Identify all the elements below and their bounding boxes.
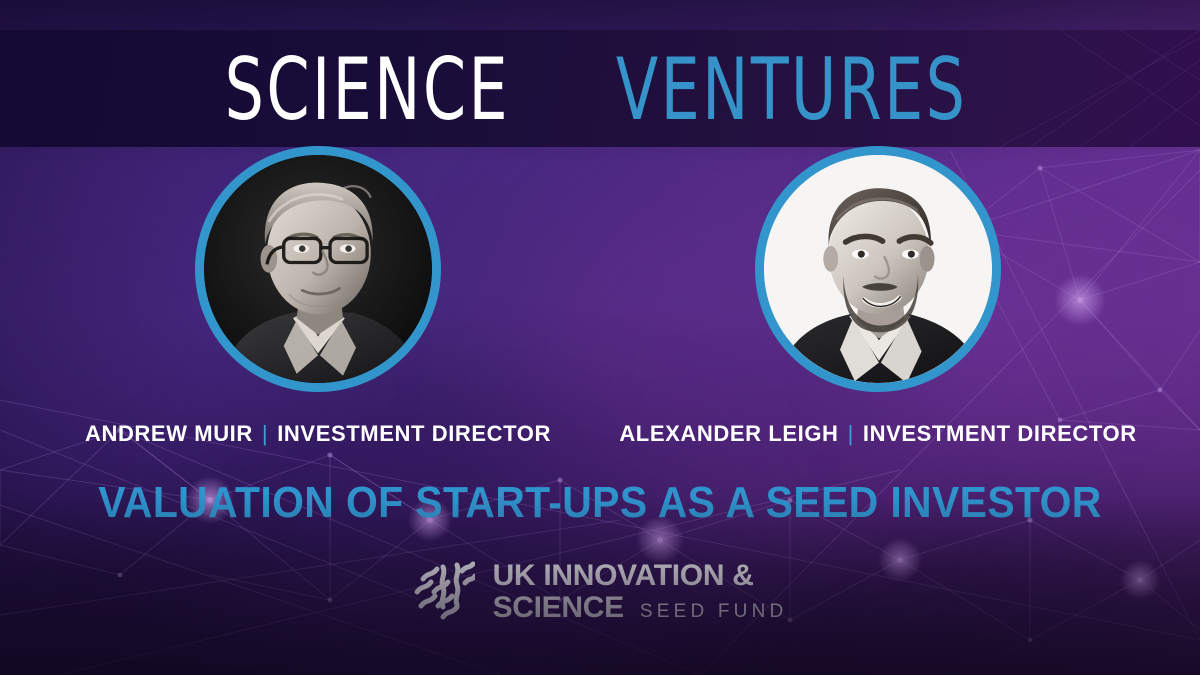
logo-wordmark: UK INNOVATION & SCIENCE SEED FUND [493, 560, 788, 624]
alexander-leigh-photo [764, 155, 992, 383]
speaker-separator-right: | [848, 421, 854, 447]
logo-line-2: SCIENCE [493, 592, 624, 624]
webinar-promo-card: SCIENCE VENTURES [0, 0, 1200, 675]
speaker-name-left: ANDREW MUIR [85, 421, 253, 447]
speaker-role-left: INVESTMENT DIRECTOR [277, 421, 551, 447]
speaker-caption-left: ANDREW MUIR | INVESTMENT DIRECTOR [38, 420, 598, 448]
logo-line-1: UK INNOVATION & [493, 560, 788, 592]
speaker-role-right: INVESTMENT DIRECTOR [863, 421, 1137, 447]
title-science-word: SCIENCE [225, 47, 510, 133]
andrew-muir-photo [204, 155, 432, 383]
speaker-caption-right: ALEXANDER LEIGH | INVESTMENT DIRECTOR [598, 420, 1158, 448]
event-headline: VALUATION OF START-UPS AS A SEED INVESTO… [42, 478, 1158, 528]
speaker-name-right: ALEXANDER LEIGH [619, 421, 838, 447]
avatar-andrew-muir [195, 146, 441, 392]
logo-subtitle: SEED FUND [640, 601, 788, 623]
speaker-separator-left: | [262, 421, 268, 447]
avatar-alexander-leigh [755, 146, 1001, 392]
title-ventures-word: VENTURES [616, 47, 967, 133]
wave-strokes-logo-icon [413, 559, 475, 625]
uk-innovation-science-seed-fund-logo: UK INNOVATION & SCIENCE SEED FUND [0, 552, 1200, 632]
page-title: SCIENCE VENTURES [0, 40, 1200, 140]
